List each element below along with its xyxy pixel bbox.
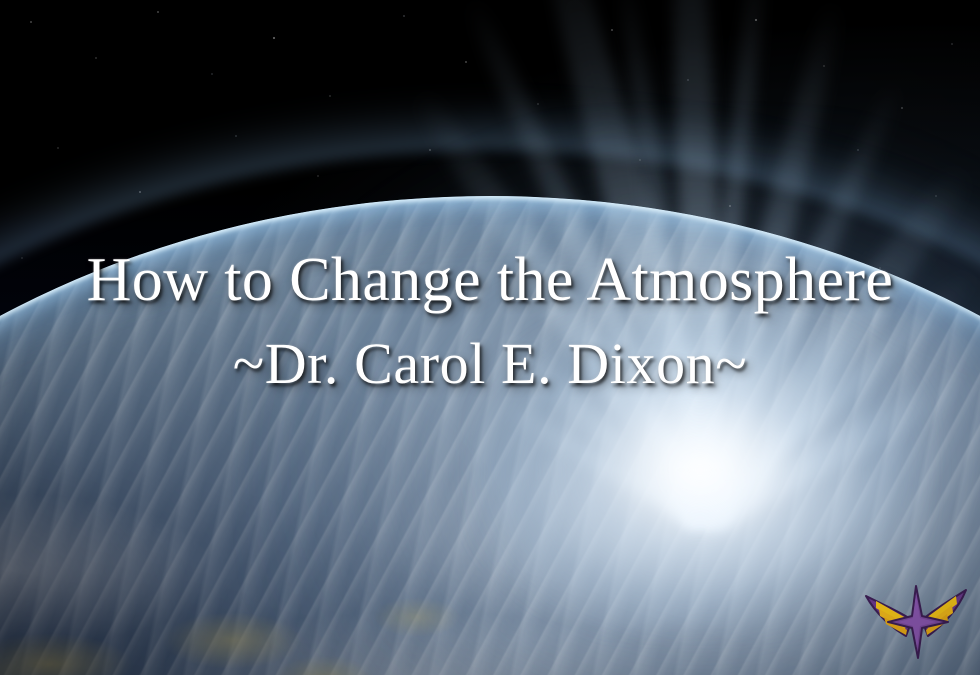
winged-star-logo bbox=[862, 578, 970, 660]
presentation-slide: How to Change the Atmosphere ~Dr. Carol … bbox=[0, 0, 980, 675]
winged-star-icon bbox=[862, 578, 970, 660]
slide-subtitle: ~Dr. Carol E. Dixon~ bbox=[0, 334, 980, 394]
slide-title: How to Change the Atmosphere bbox=[0, 248, 980, 312]
title-block: How to Change the Atmosphere ~Dr. Carol … bbox=[0, 248, 980, 395]
